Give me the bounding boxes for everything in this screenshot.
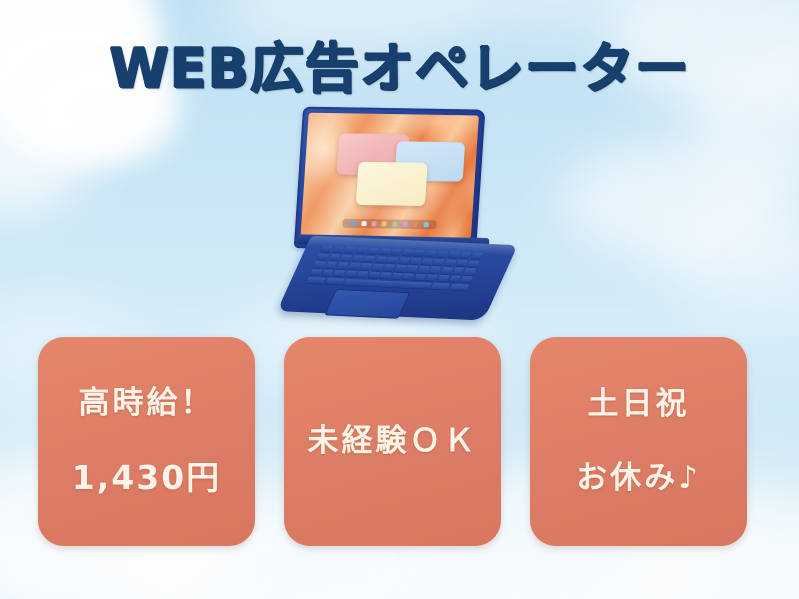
screen-glare — [301, 113, 479, 239]
laptop-lid — [294, 107, 486, 251]
badge-no-experience: 未経験ＯＫ — [284, 337, 501, 546]
badge-line-1: 土日祝 — [588, 387, 690, 423]
badge-line-2: お休み♪ — [576, 461, 701, 497]
badge-line-2: 1,430円 — [72, 459, 221, 497]
poster-stage: WEB広告オペレーター — [0, 0, 799, 599]
page-title: WEB広告オペレーター — [0, 24, 799, 103]
badge-hourly-wage: 高時給！ 1,430円 — [38, 337, 255, 546]
laptop-trackpad — [324, 289, 410, 319]
laptop-keyboard — [306, 246, 483, 291]
badge-row: 高時給！ 1,430円 未経験ＯＫ 土日祝 お休み♪ — [0, 337, 799, 549]
badge-line-1: 未経験ＯＫ — [308, 424, 478, 460]
laptop-screen — [301, 113, 479, 239]
badge-weekend-holiday: 土日祝 お休み♪ — [530, 337, 747, 546]
badge-line-1: 高時給！ — [79, 386, 215, 422]
laptop-base — [277, 236, 518, 321]
laptop-illustration — [288, 104, 510, 328]
